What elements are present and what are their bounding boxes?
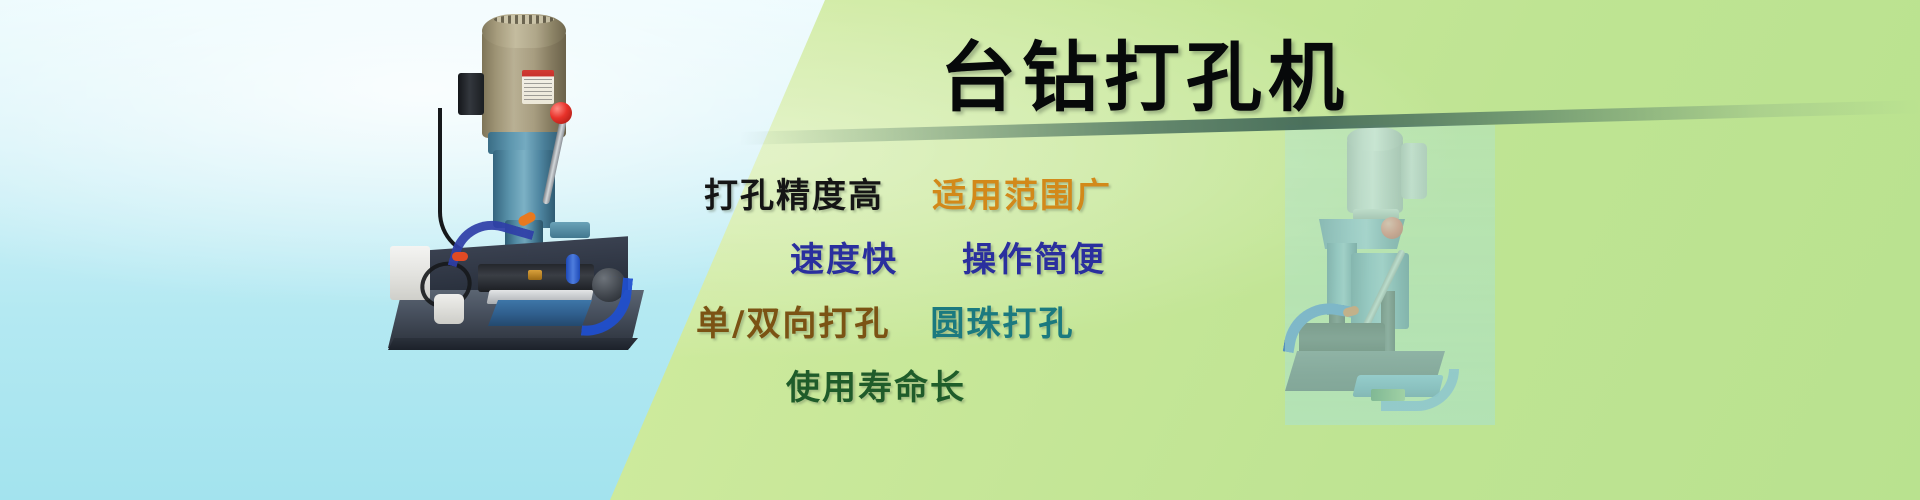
blue-grip (566, 254, 580, 284)
junction-box (458, 73, 484, 115)
blue-drain-hose (1381, 369, 1459, 411)
capacitor-can (1401, 143, 1427, 199)
brass-fitting (528, 270, 542, 280)
feature-item: 操作简便 (962, 232, 1106, 281)
product-banner: 台钻打孔机 打孔精度高 适用范围广 速度快 操作简便 单/双向打孔 圆珠打孔 使… (0, 0, 1920, 500)
feature-item: 圆珠打孔 (930, 296, 1074, 345)
feature-item: 使用寿命长 (786, 360, 966, 409)
feature-item: 速度快 (790, 232, 898, 281)
feature-row: 打孔精度高 适用范围广 (690, 168, 1350, 232)
work-table (488, 300, 592, 326)
base-edge (388, 338, 638, 350)
feature-row: 单/双向打孔 圆珠打孔 (690, 296, 1350, 360)
lever-knob (550, 102, 572, 124)
feature-item: 适用范围广 (932, 168, 1112, 217)
lever-knob (1381, 217, 1403, 239)
motor-spec-label (522, 70, 554, 104)
feature-row: 使用寿命长 (690, 360, 1350, 424)
left-machine-photo (370, 8, 660, 360)
feature-row: 速度快 操作简便 (690, 232, 1350, 296)
page-title: 台钻打孔机 (940, 32, 1350, 124)
drill-arm (550, 222, 590, 238)
feature-list: 打孔精度高 适用范围广 速度快 操作简便 单/双向打孔 圆珠打孔 使用寿命长 (690, 168, 1350, 424)
motor-vent-icon (494, 15, 554, 24)
feature-item: 打孔精度高 (704, 168, 884, 217)
coolant-nozzle-secondary (452, 252, 468, 261)
motor-cap (1347, 127, 1403, 151)
power-plug (434, 294, 464, 324)
feature-item: 单/双向打孔 (696, 296, 890, 345)
